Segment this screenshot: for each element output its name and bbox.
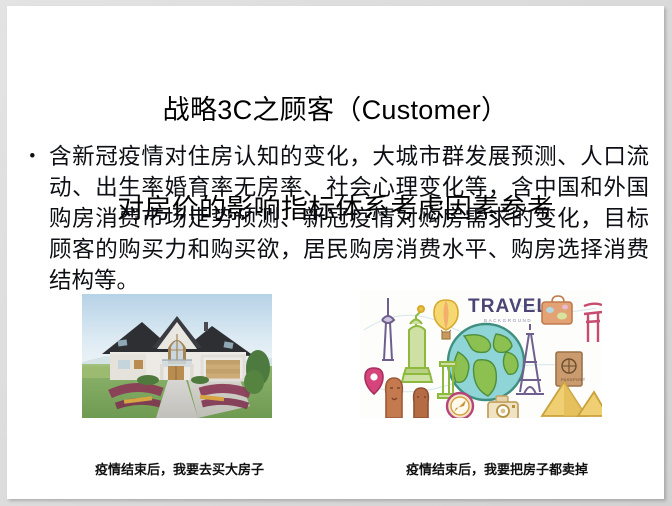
bullet-text: 含新冠疫情对住房认知的变化，大城市群发展预测、人口流动、出生率婚育率无房率、社会… <box>49 141 649 296</box>
bullet-item: • 含新冠疫情对住房认知的变化，大城市群发展预测、人口流动、出生率婚育率无房率、… <box>29 141 649 296</box>
slide-frame: 战略3C之顾客（Customer） 对房价的影响指标体系考虑因素参考 • 含新冠… <box>0 0 672 506</box>
travel-illustration-caption: 疫情结束后，我要把房子都卖掉 生命只有一次，我要游遍世界 <box>347 430 647 499</box>
house-caption-line-1: 疫情结束后，我要去买大房子 <box>37 462 322 478</box>
bullet-marker-icon: • <box>29 141 49 172</box>
svg-text:PASSPORT: PASSPORT <box>561 377 586 382</box>
travel-subhead: BACKGROUND <box>484 318 532 323</box>
travel-illustration: TRAVEL BACKGROUND <box>360 290 602 418</box>
travel-headline: TRAVEL <box>468 296 549 317</box>
travel-caption-line-1: 疫情结束后，我要把房子都卖掉 <box>347 462 647 478</box>
title-line-1: 战略3C之顾客（Customer） <box>7 94 664 127</box>
house-photo-caption: 疫情结束后，我要去买大房子 再也不想被隔离在狭小的出租房了 <box>37 430 322 499</box>
slide-canvas: 战略3C之顾客（Customer） 对房价的影响指标体系考虑因素参考 • 含新冠… <box>7 6 664 499</box>
body-content: • 含新冠疫情对住房认知的变化，大城市群发展预测、人口流动、出生率婚育率无房率、… <box>29 141 649 296</box>
house-photo <box>82 294 272 418</box>
